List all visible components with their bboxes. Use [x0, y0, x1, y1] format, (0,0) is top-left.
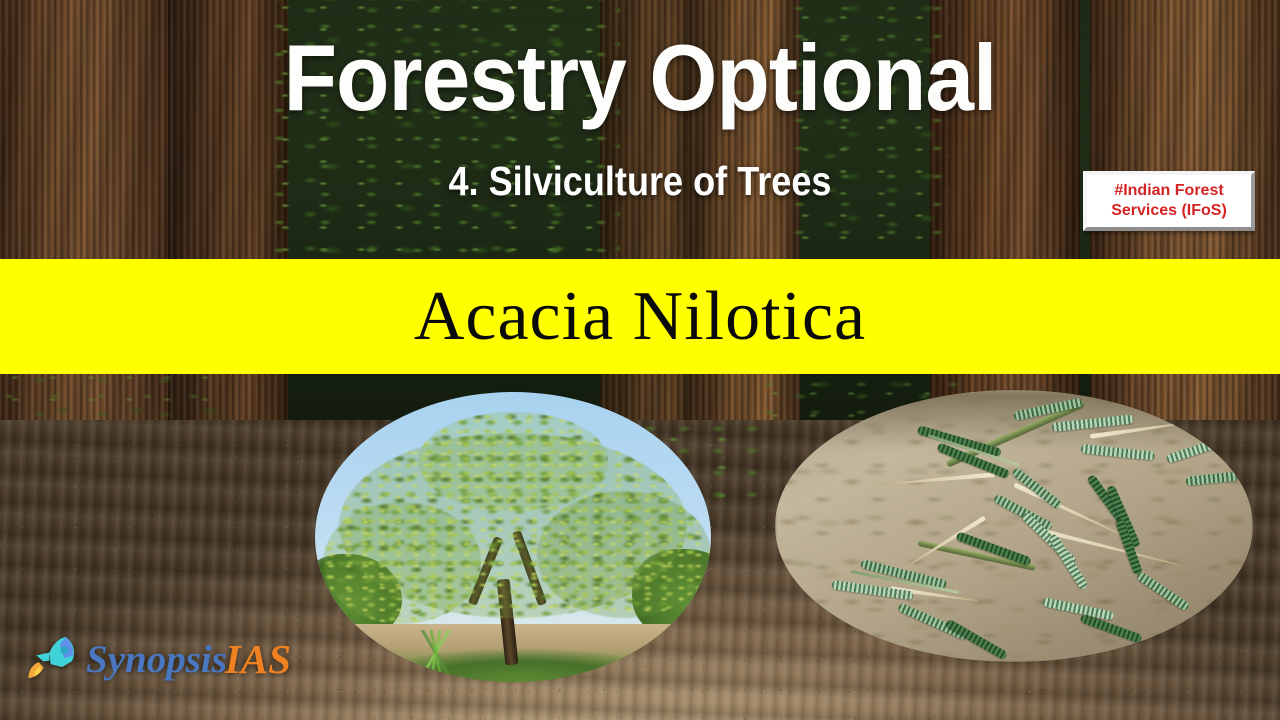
foreground-palm-tuft — [402, 630, 472, 676]
page-title: Forestry Optional — [45, 30, 1235, 126]
tree-crown-top-lobe — [418, 412, 608, 511]
logo-text-ias: IAS — [225, 639, 291, 680]
logo-text-synopsis: Synopsis — [86, 640, 227, 679]
species-name: Acacia Nilotica — [414, 277, 866, 357]
tree-crown-left-lobe — [323, 502, 481, 624]
badge-line-1: #Indian Forest — [1114, 181, 1223, 201]
species-name-band: Acacia Nilotica — [0, 259, 1280, 374]
acacia-tree-habit-photo — [315, 392, 711, 682]
tree-crown-right-lobe — [537, 491, 711, 619]
blurred-upper-background — [775, 390, 1253, 450]
rocket-icon — [28, 630, 82, 688]
page-subtitle: 4. Silviculture of Trees — [77, 158, 1203, 205]
indian-forest-services-badge: #Indian Forest Services (IFoS) — [1083, 171, 1255, 231]
presentation-slide: Forestry Optional 4. Silviculture of Tre… — [0, 0, 1280, 720]
acacia-leaves-thorns-photo — [775, 390, 1253, 662]
badge-line-2: Services (IFoS) — [1111, 201, 1227, 221]
synopsis-ias-logo[interactable]: Synopsis IAS — [28, 630, 291, 688]
